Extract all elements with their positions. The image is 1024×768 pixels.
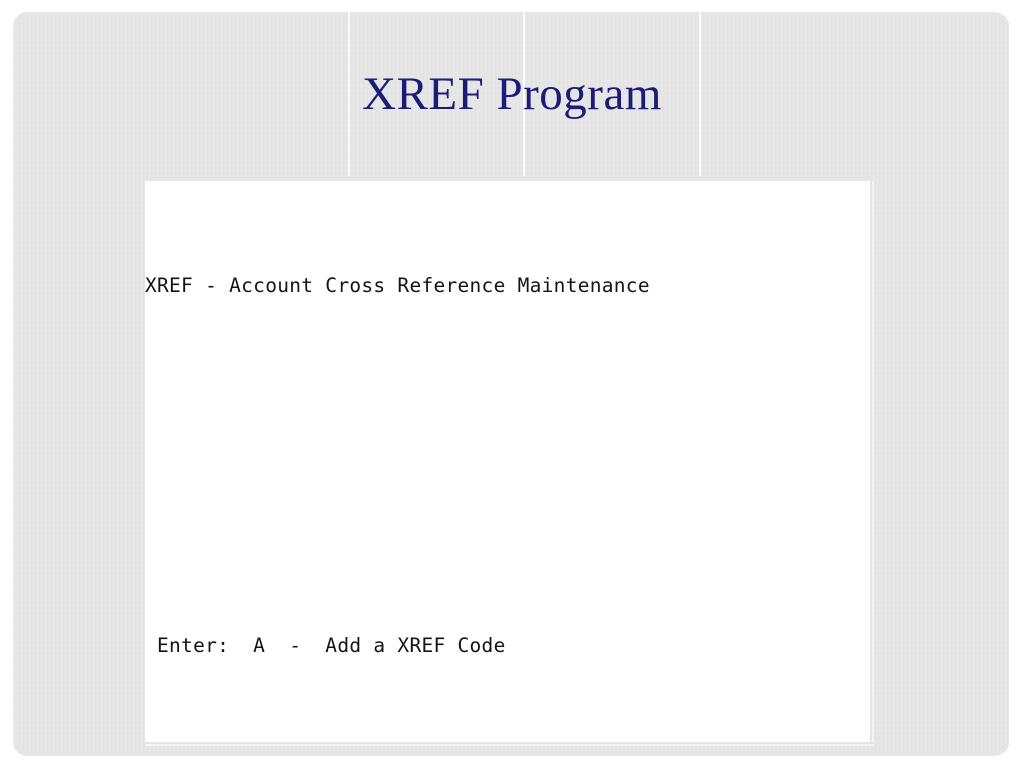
terminal-screen[interactable]: XREF - Account Cross Reference Maintenan… [145, 181, 870, 742]
terminal-blank-line-2 [145, 511, 870, 541]
terminal-panel: XREF - Account Cross Reference Maintenan… [145, 181, 870, 742]
page-title: XREF Program [0, 64, 1024, 124]
presentation-slide: XREF Program XREF - Account Cross Refere… [0, 0, 1024, 768]
menu-option-a[interactable]: Enter: A - Add a XREF Code [145, 631, 870, 661]
terminal-header-line: XREF - Account Cross Reference Maintenan… [145, 271, 870, 301]
terminal-blank-line-1 [145, 391, 870, 421]
